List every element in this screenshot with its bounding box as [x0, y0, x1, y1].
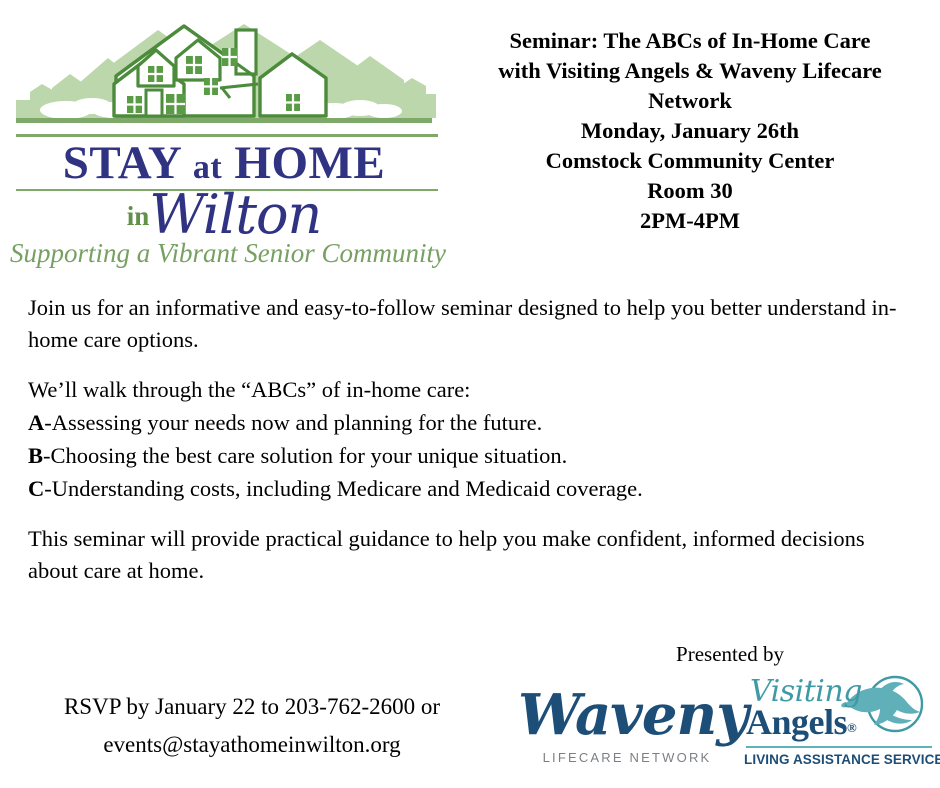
intro-paragraph: Join us for an informative and easy-to-f…: [28, 292, 918, 356]
logo-word-home: HOME: [234, 137, 385, 189]
angels-wordmark: Angels®: [746, 702, 856, 748]
abc-text-c: -Understanding costs, including Medicare…: [44, 476, 643, 501]
house-illustration-icon: [8, 14, 440, 132]
waveny-lifecare-network-logo: Waveny LIFECARE NETWORK: [518, 682, 736, 780]
rsvp-block: RSVP by January 22 to 203-762-2600 or ev…: [22, 688, 482, 764]
abc-lead-paragraph: We’ll walk through the “ABCs” of in-home…: [28, 374, 918, 406]
visiting-angels-logo: Visiting Angels® LIVING ASSISTANCE SERVI…: [744, 676, 934, 780]
rsvp-email-line[interactable]: events@stayathomeinwilton.org: [22, 726, 482, 764]
stay-at-home-logo: STAY at HOME inWilton Supporting a Vibra…: [8, 14, 440, 276]
header-line-5: Comstock Community Center: [450, 146, 930, 176]
header-line-1: Seminar: The ABCs of In-Home Care: [450, 26, 930, 56]
logo-word-wilton: Wilton: [149, 183, 321, 246]
header-line-6: Room 30: [450, 176, 930, 206]
presented-by-label: Presented by: [600, 642, 860, 667]
logo-word-at: at: [193, 149, 222, 186]
visiting-angels-rule: [746, 746, 932, 748]
abc-letter-c: C: [28, 476, 44, 501]
abc-item-a: A-Assessing your needs now and planning …: [28, 406, 918, 439]
header-line-3: Network: [450, 86, 930, 116]
header-line-4: Monday, January 26th: [450, 116, 930, 146]
visiting-angels-subtitle: LIVING ASSISTANCE SERVICES: [744, 752, 934, 767]
waveny-subtitle: LIFECARE NETWORK: [518, 750, 736, 765]
abc-text-b: -Choosing the best care solution for you…: [43, 443, 567, 468]
flyer-body: Join us for an informative and easy-to-f…: [28, 292, 918, 587]
angels-word: Angels: [746, 702, 847, 742]
seminar-header: Seminar: The ABCs of In-Home Care with V…: [450, 26, 930, 236]
header-line-2: with Visiting Angels & Waveny Lifecare: [450, 56, 930, 86]
abc-letter-b: B: [28, 443, 43, 468]
abc-text-a: -Assessing your needs now and planning f…: [44, 410, 542, 435]
rsvp-phone-line: RSVP by January 22 to 203-762-2600 or: [22, 688, 482, 726]
logo-word-stay: STAY: [63, 137, 181, 189]
header-line-7: 2PM-4PM: [450, 206, 930, 236]
flyer-header-band: STAY at HOME inWilton Supporting a Vibra…: [0, 0, 940, 285]
abc-letter-a: A: [28, 410, 44, 435]
closing-paragraph: This seminar will provide practical guid…: [28, 523, 918, 587]
logo-word-in: in: [127, 201, 150, 231]
abc-item-c: C-Understanding costs, including Medicar…: [28, 472, 918, 505]
waveny-wordmark: Waveny: [518, 682, 736, 748]
registered-trademark-icon: ®: [847, 720, 856, 735]
abc-item-b: B-Choosing the best care solution for yo…: [28, 439, 918, 472]
logo-tagline: Supporting a Vibrant Senior Community: [8, 238, 448, 269]
